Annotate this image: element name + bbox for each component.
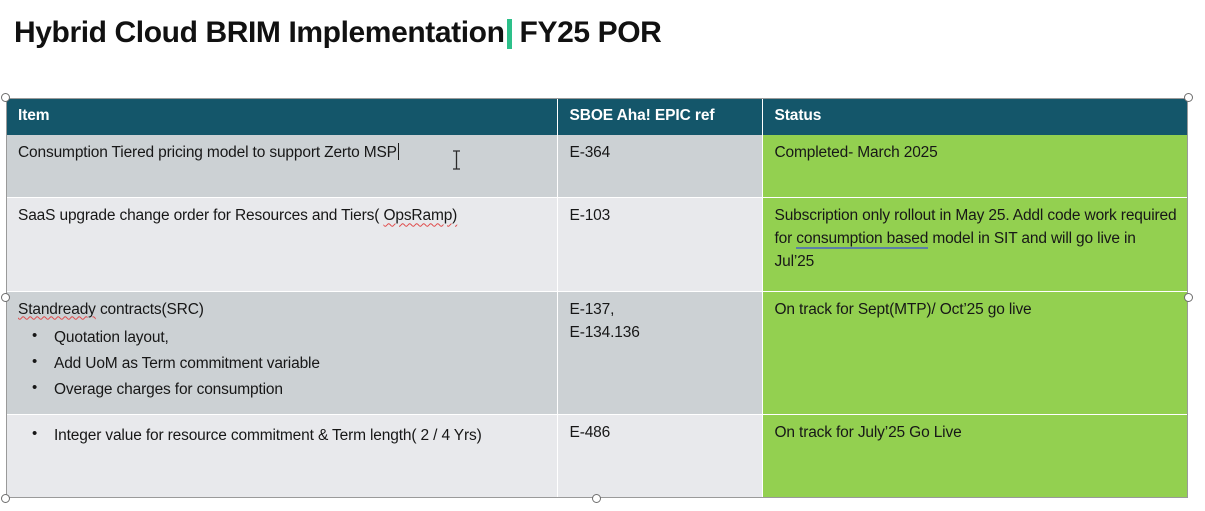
resize-handle-top-right[interactable] xyxy=(1184,93,1193,102)
cell-epic-1[interactable]: E-364 xyxy=(557,135,762,198)
resize-handle-top-left[interactable] xyxy=(1,93,10,102)
column-header-epic[interactable]: SBOE Aha! EPIC ref xyxy=(557,98,762,135)
cell-status-3[interactable]: On track for Sept(MTP)/ Oct’25 go live xyxy=(762,291,1188,415)
table-header-row: Item SBOE Aha! EPIC ref Status xyxy=(6,98,1188,135)
epic-ref-line-1: E-137, xyxy=(570,299,752,322)
table-row[interactable]: SaaS upgrade change order for Resources … xyxy=(6,198,1188,291)
table-row[interactable]: Standready contracts(SRC) Quotation layo… xyxy=(6,291,1188,415)
cell-status-2[interactable]: Subscription only rollout in May 25. Add… xyxy=(762,198,1188,291)
list-item: Add UoM as Term commitment variable xyxy=(20,352,547,375)
table-object[interactable]: Item SBOE Aha! EPIC ref Status Consumpti… xyxy=(6,98,1188,498)
item-text-2: SaaS upgrade change order for Resources … xyxy=(18,207,379,224)
list-item: Overage charges for consumption xyxy=(20,378,547,401)
resize-handle-bottom-center[interactable] xyxy=(592,494,601,503)
item-text-1: Consumption Tiered pricing model to supp… xyxy=(18,144,397,161)
list-item: Quotation layout, xyxy=(20,326,547,349)
resize-handle-bottom-left[interactable] xyxy=(1,494,10,503)
cell-status-4[interactable]: On track for July’25 Go Live xyxy=(762,415,1188,498)
page-title-main: Hybrid Cloud BRIM Implementation xyxy=(14,16,505,50)
cell-epic-3[interactable]: E-137, E-134.136 xyxy=(557,291,762,415)
item-heading-3-rest: contracts(SRC) xyxy=(96,301,204,318)
implementation-status-table[interactable]: Item SBOE Aha! EPIC ref Status Consumpti… xyxy=(6,98,1188,498)
item-heading-3: Standready contracts(SRC) xyxy=(18,299,204,322)
item-bullet-list-4: Integer value for resource commitment & … xyxy=(18,424,547,447)
cell-item-4[interactable]: Integer value for resource commitment & … xyxy=(6,415,557,498)
cell-status-1[interactable]: Completed- March 2025 xyxy=(762,135,1188,198)
resize-handle-middle-left[interactable] xyxy=(1,293,10,302)
spellcheck-word-opsramp: OpsRamp) xyxy=(383,207,457,224)
title-accent-bar xyxy=(507,19,512,49)
cell-epic-4[interactable]: E-486 xyxy=(557,415,762,498)
spellcheck-word-standready: Standready xyxy=(18,301,96,318)
cell-item-2[interactable]: SaaS upgrade change order for Resources … xyxy=(6,198,557,291)
cell-item-1[interactable]: Consumption Tiered pricing model to supp… xyxy=(6,135,557,198)
column-header-status[interactable]: Status xyxy=(762,98,1188,135)
epic-ref-line-2: E-134.136 xyxy=(570,322,752,345)
text-caret xyxy=(398,143,400,160)
table-row[interactable]: Consumption Tiered pricing model to supp… xyxy=(6,135,1188,198)
table-row[interactable]: Integer value for resource commitment & … xyxy=(6,415,1188,498)
resize-handle-middle-right[interactable] xyxy=(1184,293,1193,302)
item-bullet-list-3: Quotation layout, Add UoM as Term commit… xyxy=(18,326,547,402)
cell-item-3[interactable]: Standready contracts(SRC) Quotation layo… xyxy=(6,291,557,415)
column-header-item[interactable]: Item xyxy=(6,98,557,135)
page-title-tail: FY25 POR xyxy=(520,16,662,50)
grammarcheck-phrase-consumption-based: consumption based xyxy=(796,230,928,249)
page-title: Hybrid Cloud BRIM Implementation FY25 PO… xyxy=(14,16,661,50)
list-item: Integer value for resource commitment & … xyxy=(20,424,547,447)
cell-epic-2[interactable]: E-103 xyxy=(557,198,762,291)
